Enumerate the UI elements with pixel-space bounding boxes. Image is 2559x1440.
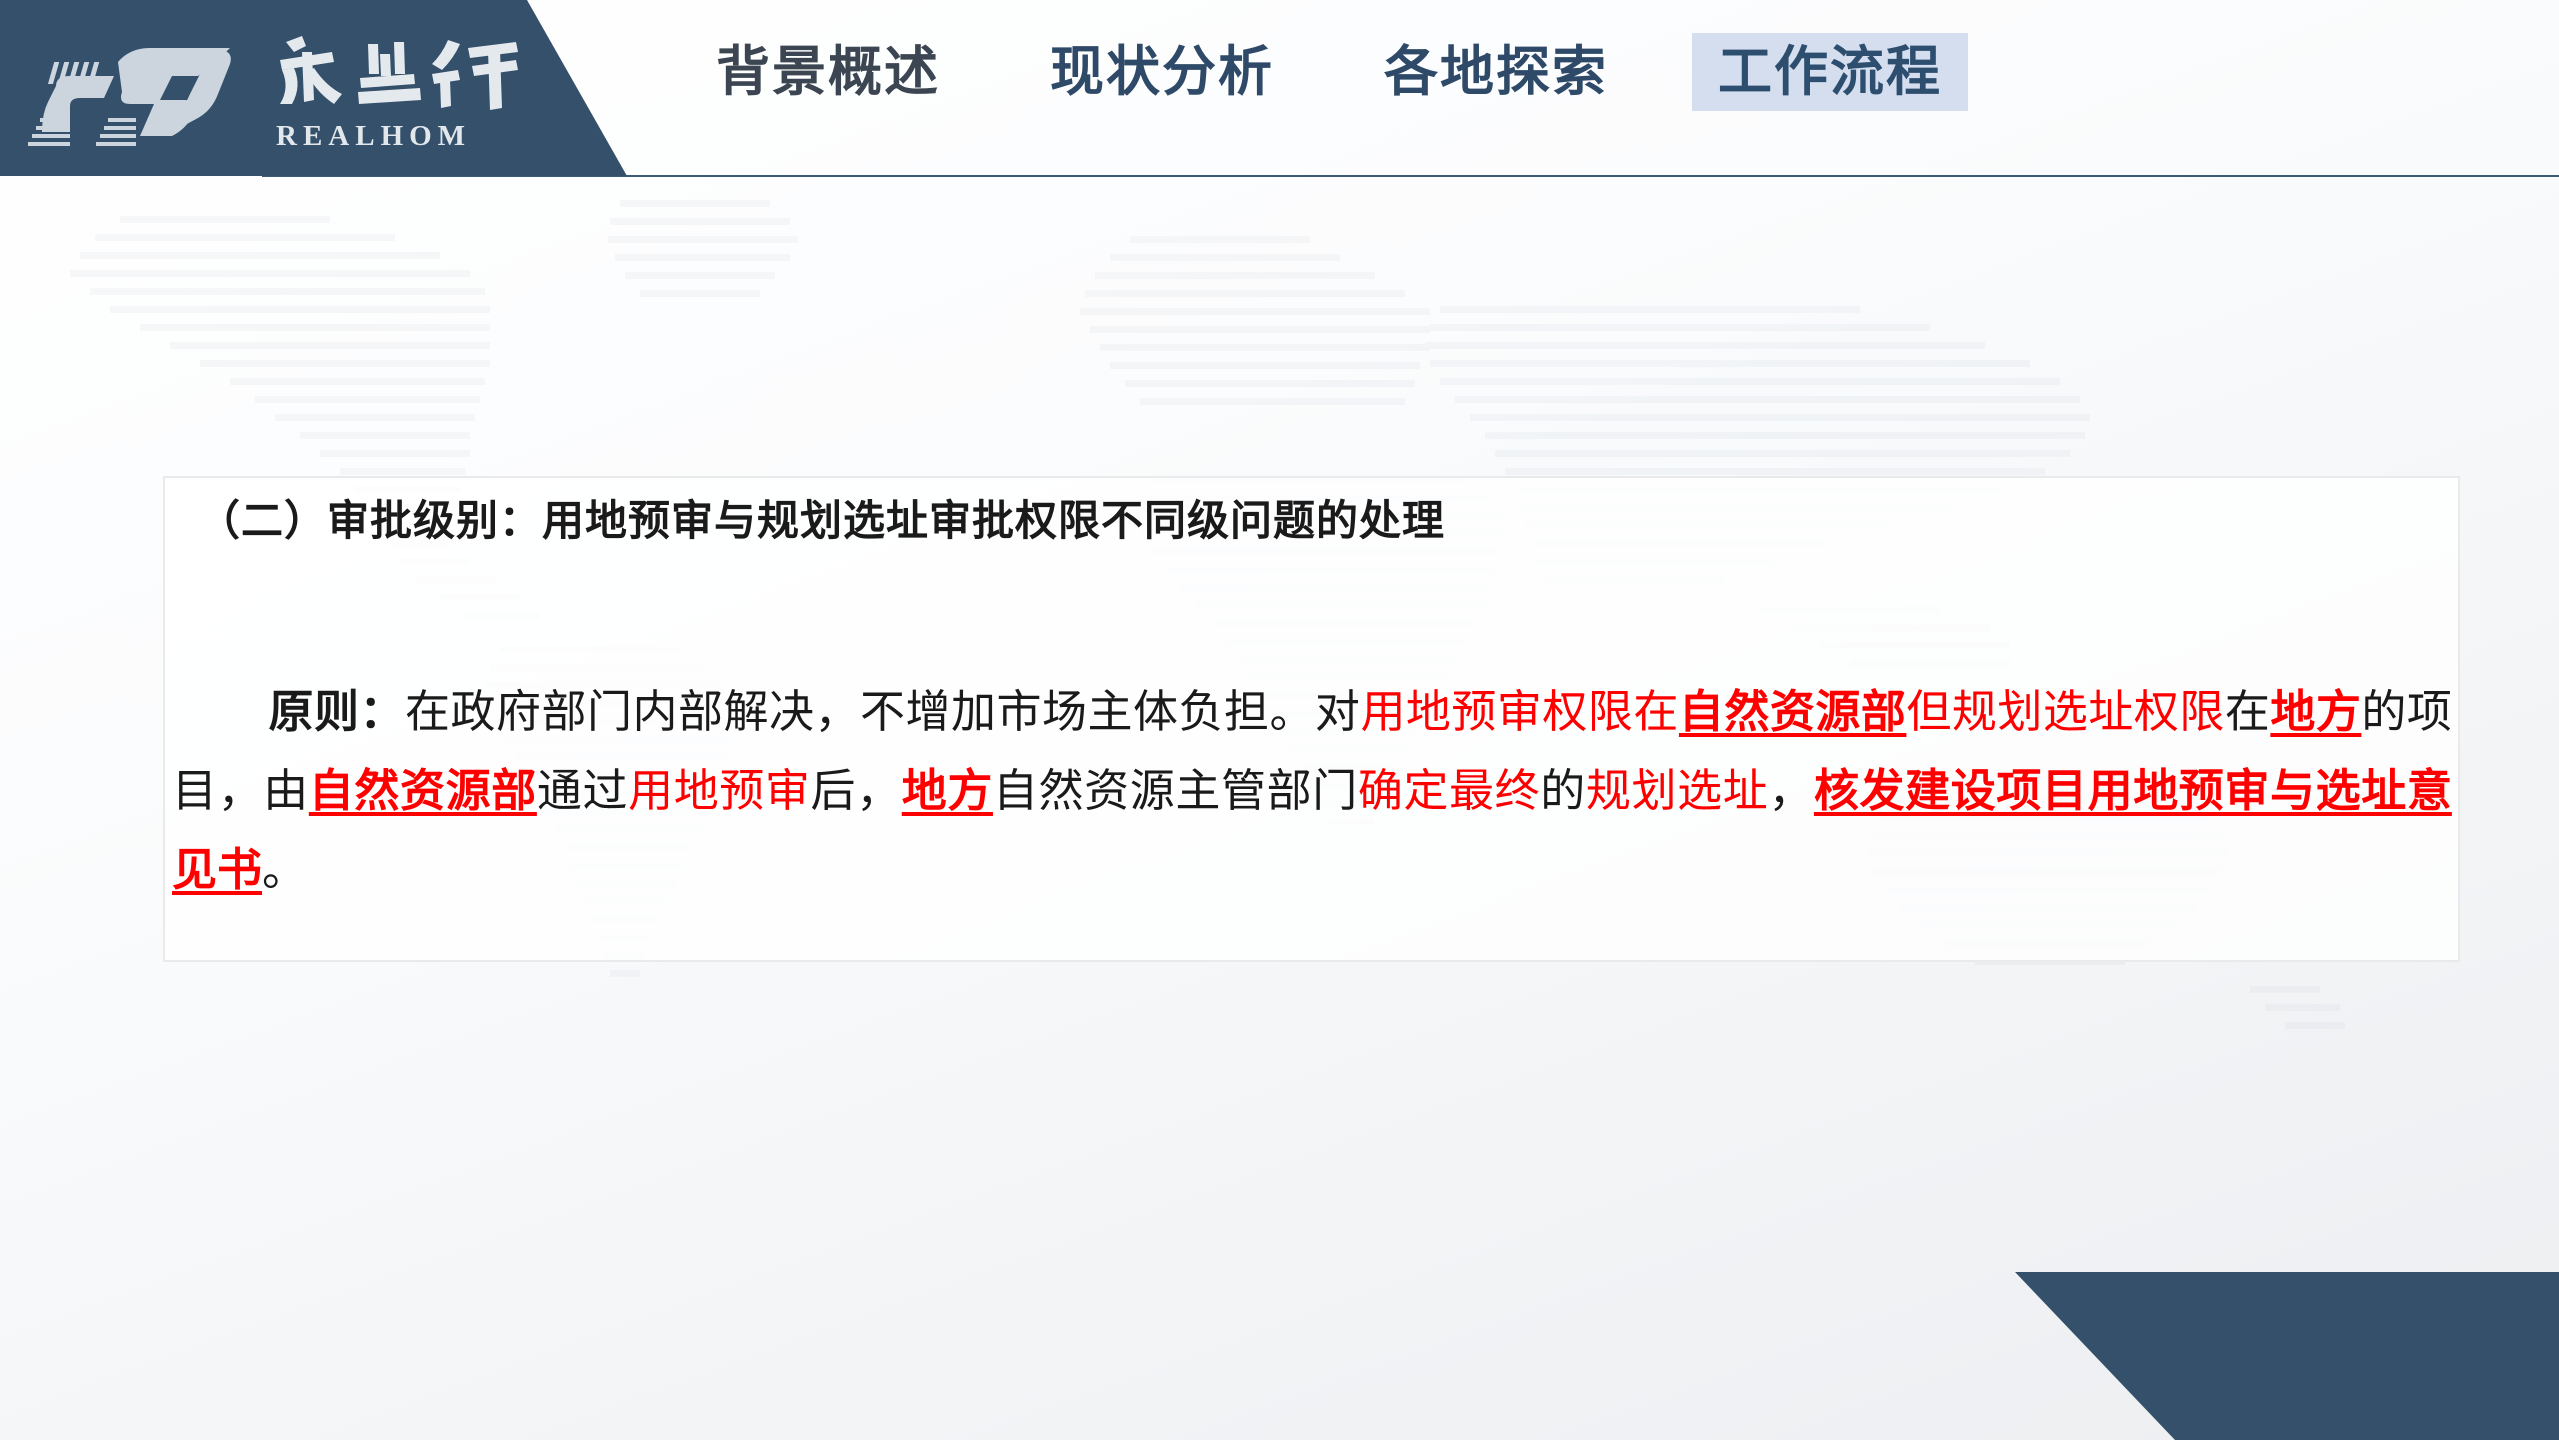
run-local-1: 地方: [2270, 685, 2361, 738]
run-intro: 在政府部门内部解决，不增加市场主体负担。对: [405, 685, 1360, 738]
run-local-authority: 自然资源主管部门: [993, 764, 1358, 817]
brand-name-en: REALHOM: [276, 120, 536, 153]
run-but: 但: [1906, 685, 1952, 738]
corner-decoration-shape: [1945, 1272, 2559, 1440]
main-nav: 背景概述 现状分析 各地探索 工作流程: [690, 24, 1968, 120]
run-ministry-2: 自然资源部: [309, 764, 537, 817]
nav-tab-background-overview[interactable]: 背景概述: [690, 33, 966, 111]
run-preapproval-authority: 用地预审权限: [1360, 685, 1633, 738]
run-siting-authority: 规划选址权限: [1952, 685, 2225, 738]
run-at-1: 在: [1633, 685, 1679, 738]
run-through: 通过: [537, 764, 628, 817]
slide-root: REALHOM 背景概述 现状分析 各地探索 工作流程 （二）审批级别：用地预审…: [0, 0, 2559, 1440]
nav-tab-work-process[interactable]: 工作流程: [1692, 33, 1968, 111]
run-land-preapproval: 用地预审: [628, 764, 810, 817]
run-planning-siting: 规划选址: [1586, 764, 1768, 817]
yh-monogram-logo-icon: [22, 28, 272, 152]
body-paragraph: 原则：在政府部门内部解决，不增加市场主体负担。对用地预审权限在自然资源部但规划选…: [172, 672, 2452, 909]
run-after: 后，: [811, 764, 902, 817]
brand-logo-plate: REALHOM: [0, 0, 630, 176]
header-bar: REALHOM 背景概述 现状分析 各地探索 工作流程: [0, 0, 2559, 178]
run-period: 。: [262, 843, 307, 896]
run-comma: ，: [1768, 764, 1814, 817]
run-determine-final: 确定最终: [1358, 764, 1540, 817]
nav-tab-status-analysis[interactable]: 现状分析: [1024, 33, 1300, 111]
run-at-2: 在: [2225, 685, 2271, 738]
run-ministry-1: 自然资源部: [1679, 685, 1906, 738]
run-principle-label: 原则：: [268, 685, 405, 738]
section-heading: （二）审批级别：用地预审与规划选址审批权限不同级问题的处理: [198, 487, 1445, 548]
brand-name-cn-icon: [272, 30, 532, 114]
run-de: 的: [1540, 764, 1586, 817]
nav-tab-regional-exploration[interactable]: 各地探索: [1358, 33, 1634, 111]
run-local-2: 地方: [902, 764, 993, 817]
